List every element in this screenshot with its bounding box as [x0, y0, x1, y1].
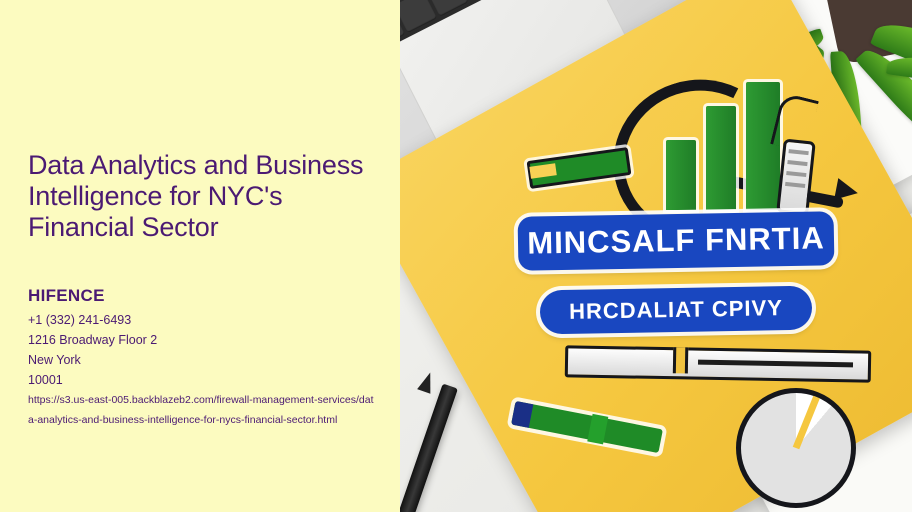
- contact-block: +1 (332) 241-6493 1216 Broadway Floor 2 …: [28, 310, 378, 390]
- pie-slice-gap: [793, 396, 820, 450]
- image-banner-primary: MINCSALF FNRTIA: [518, 211, 835, 271]
- ruler-divider: [673, 347, 688, 373]
- image-banner-secondary: HRCDALIAT CPIVY: [540, 286, 813, 335]
- marker-cap: [529, 163, 556, 179]
- bar-3: [746, 82, 780, 210]
- contact-phone: +1 (332) 241-6493: [28, 310, 378, 330]
- magnifier-tip: [834, 178, 860, 204]
- green-marker-icon: [511, 401, 663, 453]
- bar-chart-icon: [658, 82, 798, 210]
- ruler-pen-icon: [565, 345, 872, 382]
- brand-name: HIFENCE: [28, 286, 105, 306]
- marker-band: [587, 414, 608, 445]
- poster-page: Data Analytics and Business Intelligence…: [0, 0, 912, 512]
- pie-chart-icon: [736, 388, 856, 508]
- bar-2: [706, 106, 736, 210]
- contact-city: New York: [28, 350, 378, 370]
- left-text-panel: Data Analytics and Business Intelligence…: [0, 0, 400, 512]
- bar-1: [666, 140, 696, 210]
- contact-zip: 10001: [28, 370, 378, 390]
- source-url[interactable]: https://s3.us-east-005.backblazeb2.com/f…: [28, 390, 376, 430]
- ruler-line: [698, 360, 853, 368]
- marker-cap-blue: [511, 401, 533, 428]
- card-graphics-layer: MINCSALF FNRTIA HRCDALIAT CPIVY: [400, 0, 912, 512]
- contact-address: 1216 Broadway Floor 2: [28, 330, 378, 350]
- hero-image: MINCSALF FNRTIA HRCDALIAT CPIVY FF: [400, 0, 912, 512]
- page-title: Data Analytics and Business Intelligence…: [28, 150, 368, 242]
- small-device-icon: [776, 139, 816, 216]
